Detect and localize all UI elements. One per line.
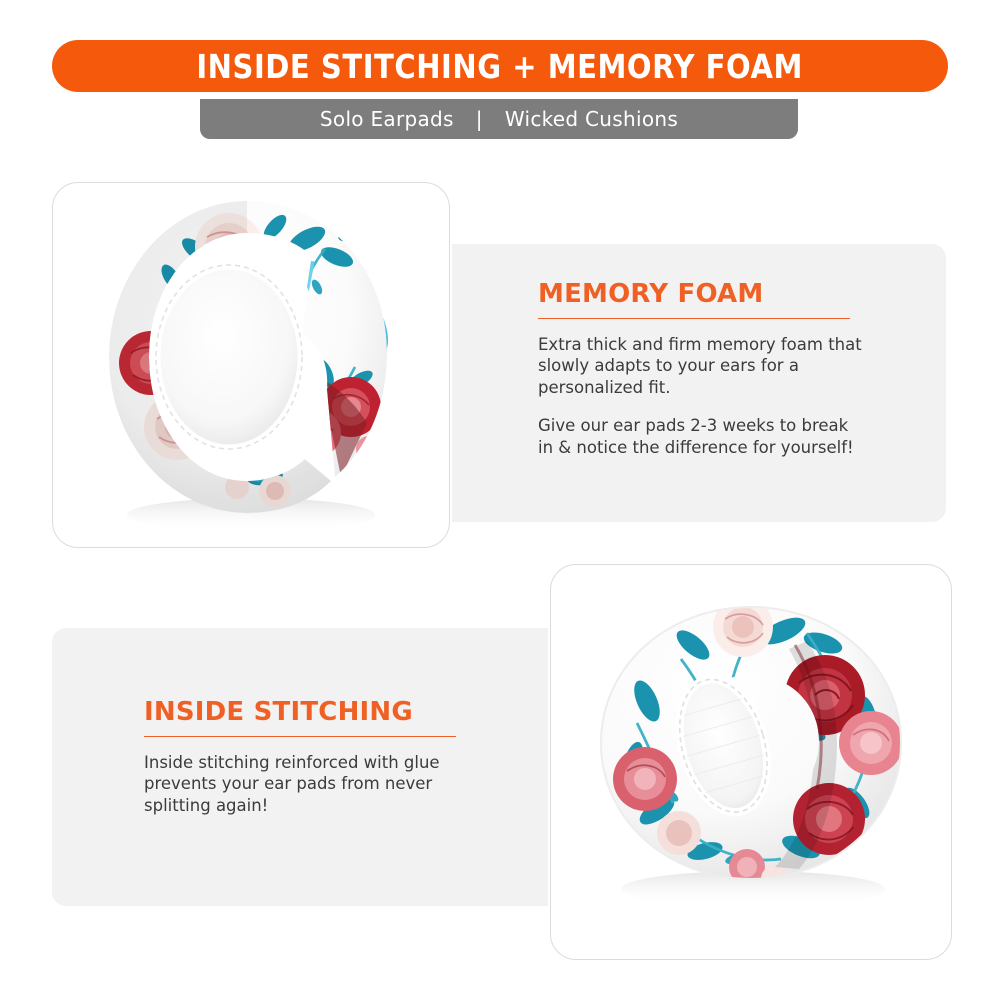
memory-foam-paragraph-1: Extra thick and firm memory foam that sl…	[538, 334, 868, 399]
inside-stitching-heading: INSIDE STITCHING	[144, 698, 474, 727]
earpad-cutaway-image	[79, 191, 423, 539]
floral-rose-cream-top	[713, 597, 773, 657]
memory-foam-text-block: MEMORY FOAM Extra thick and firm memory …	[538, 280, 868, 458]
earpad-inner-opening	[153, 262, 305, 452]
memory-foam-paragraph-2: Give our ear pads 2-3 weeks to break in …	[538, 415, 868, 459]
memory-foam-heading: MEMORY FOAM	[538, 280, 868, 309]
page-title: INSIDE STITCHING + MEMORY FOAM	[197, 47, 804, 86]
earpad-angled-image	[575, 583, 927, 941]
product-card-memory-foam	[52, 182, 450, 548]
brand-name-right: Wicked Cushions	[505, 107, 678, 131]
header-banner: INSIDE STITCHING + MEMORY FOAM	[52, 40, 948, 92]
heading-underline	[144, 736, 456, 737]
product-card-inside-stitching	[550, 564, 952, 960]
inside-stitching-text-block: INSIDE STITCHING Inside stitching reinfo…	[144, 698, 474, 817]
brand-name-left: Solo Earpads	[320, 107, 454, 131]
heading-underline	[538, 318, 850, 319]
inside-stitching-paragraph-1: Inside stitching reinforced with glue pr…	[144, 752, 474, 817]
infographic-page: INSIDE STITCHING + MEMORY FOAM Solo Earp…	[0, 0, 1000, 1000]
brand-subtitle-bar: Solo Earpads | Wicked Cushions	[200, 99, 798, 139]
floral-rose-pink-right	[839, 711, 903, 775]
brand-separator: |	[476, 107, 483, 131]
